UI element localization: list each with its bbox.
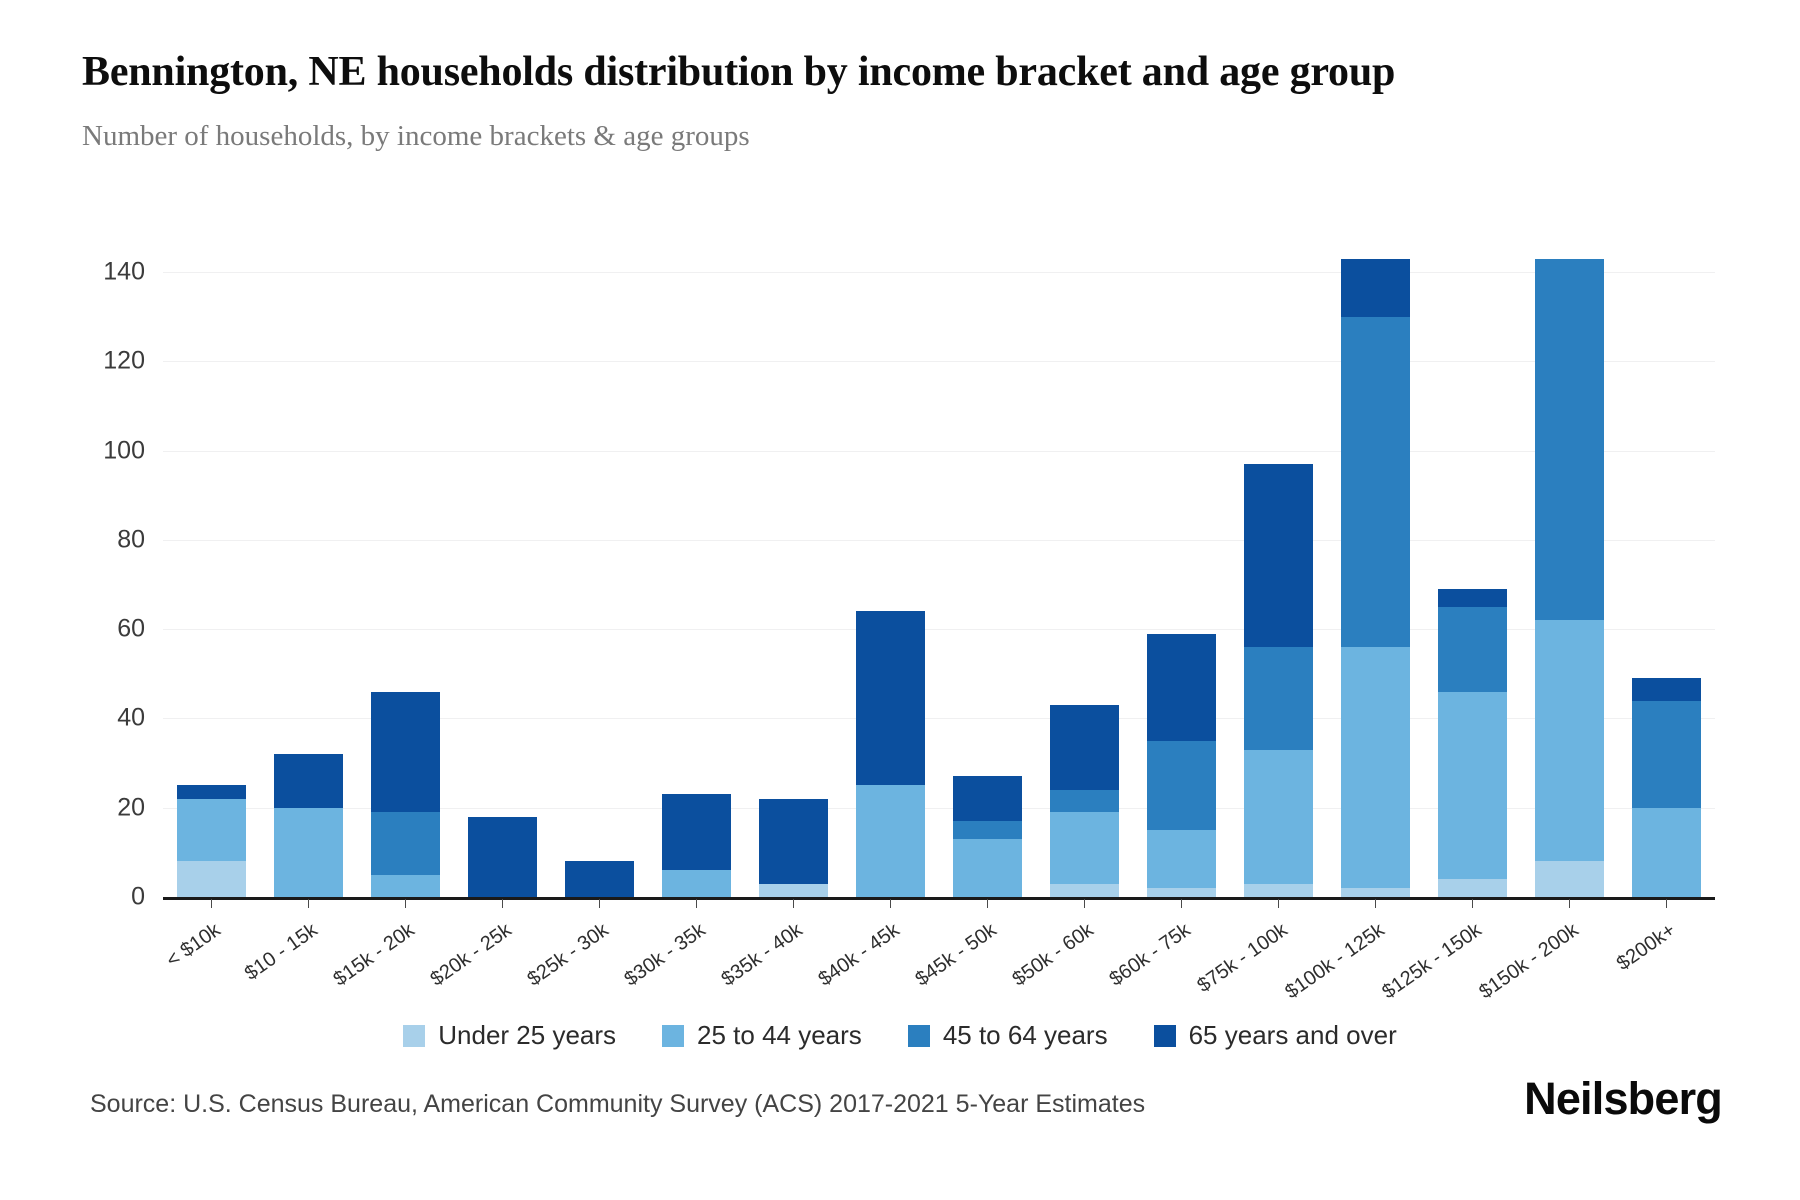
bar-segment[interactable] (177, 785, 247, 798)
bar-stack[interactable] (856, 611, 926, 897)
bar-segment[interactable] (1341, 259, 1411, 317)
bar-stack[interactable] (1341, 259, 1411, 897)
bar-segment[interactable] (1147, 741, 1217, 830)
bar-segment[interactable] (565, 861, 635, 897)
bar-segment[interactable] (759, 799, 829, 884)
bar-segment[interactable] (662, 870, 732, 897)
bar-segment[interactable] (1341, 888, 1411, 897)
bar-segment[interactable] (1244, 884, 1314, 897)
bar-segment[interactable] (371, 692, 441, 813)
legend-swatch-icon (1154, 1025, 1176, 1047)
legend-label: 25 to 44 years (697, 1020, 862, 1051)
bar-segment[interactable] (662, 794, 732, 870)
legend-swatch-icon (403, 1025, 425, 1047)
bar-segment[interactable] (1341, 647, 1411, 888)
bar-stack[interactable] (759, 799, 829, 897)
legend-swatch-icon (662, 1025, 684, 1047)
bar-stack[interactable] (662, 794, 732, 897)
bar-segment[interactable] (1050, 812, 1120, 883)
legend-item[interactable]: 25 to 44 years (662, 1020, 862, 1051)
bar-stack[interactable] (274, 754, 344, 897)
bar-segment[interactable] (371, 812, 441, 875)
bar-segment[interactable] (1244, 750, 1314, 884)
bar-segment[interactable] (759, 884, 829, 897)
bar-segment[interactable] (1147, 888, 1217, 897)
bar-segment[interactable] (1438, 589, 1508, 607)
legend-item[interactable]: 45 to 64 years (908, 1020, 1108, 1051)
chart-legend: Under 25 years25 to 44 years45 to 64 yea… (0, 1020, 1800, 1051)
bar-segment[interactable] (953, 821, 1023, 839)
bar-segment[interactable] (1632, 701, 1702, 808)
chart-canvas: Bennington, NE households distribution b… (0, 0, 1800, 1200)
legend-label: 65 years and over (1189, 1020, 1397, 1051)
bar-stack[interactable] (565, 861, 635, 897)
source-note: Source: U.S. Census Bureau, American Com… (90, 1090, 1145, 1119)
bar-segment[interactable] (1147, 634, 1217, 741)
bar-stack[interactable] (1147, 634, 1217, 897)
bar-stack[interactable] (1535, 259, 1605, 897)
bar-segment[interactable] (274, 754, 344, 808)
bar-segment[interactable] (1438, 607, 1508, 692)
bar-segment[interactable] (1244, 647, 1314, 750)
bar-segment[interactable] (1050, 705, 1120, 790)
bar-segment[interactable] (1050, 790, 1120, 812)
bar-segment[interactable] (953, 776, 1023, 821)
bar-stack[interactable] (371, 692, 441, 897)
bar-segment[interactable] (856, 611, 926, 785)
legend-item[interactable]: Under 25 years (403, 1020, 616, 1051)
bar-segment[interactable] (1438, 879, 1508, 897)
bar-segment[interactable] (1147, 830, 1217, 888)
bar-segment[interactable] (177, 799, 247, 862)
legend-label: 45 to 64 years (943, 1020, 1108, 1051)
bar-segment[interactable] (468, 817, 538, 897)
bar-stack[interactable] (1244, 464, 1314, 897)
bar-stack[interactable] (177, 785, 247, 897)
bar-segment[interactable] (1050, 884, 1120, 897)
bar-segment[interactable] (1535, 259, 1605, 621)
legend-label: Under 25 years (438, 1020, 616, 1051)
bar-segment[interactable] (177, 861, 247, 897)
bar-segment[interactable] (1535, 861, 1605, 897)
legend-item[interactable]: 65 years and over (1154, 1020, 1397, 1051)
bar-stack[interactable] (953, 776, 1023, 897)
bar-segment[interactable] (953, 839, 1023, 897)
brand-logo: Neilsberg (1524, 1073, 1722, 1125)
bar-stack[interactable] (1632, 678, 1702, 897)
bar-segment[interactable] (1244, 464, 1314, 647)
bar-segment[interactable] (1632, 678, 1702, 700)
bar-stack[interactable] (1438, 589, 1508, 897)
bar-segment[interactable] (274, 808, 344, 897)
bar-stack[interactable] (468, 817, 538, 897)
bar-segment[interactable] (856, 785, 926, 897)
bar-stack[interactable] (1050, 705, 1120, 897)
bar-segment[interactable] (1438, 692, 1508, 880)
bar-segment[interactable] (1535, 620, 1605, 861)
bar-segment[interactable] (1341, 317, 1411, 647)
bar-segment[interactable] (1632, 808, 1702, 897)
bar-segment[interactable] (371, 875, 441, 897)
legend-swatch-icon (908, 1025, 930, 1047)
